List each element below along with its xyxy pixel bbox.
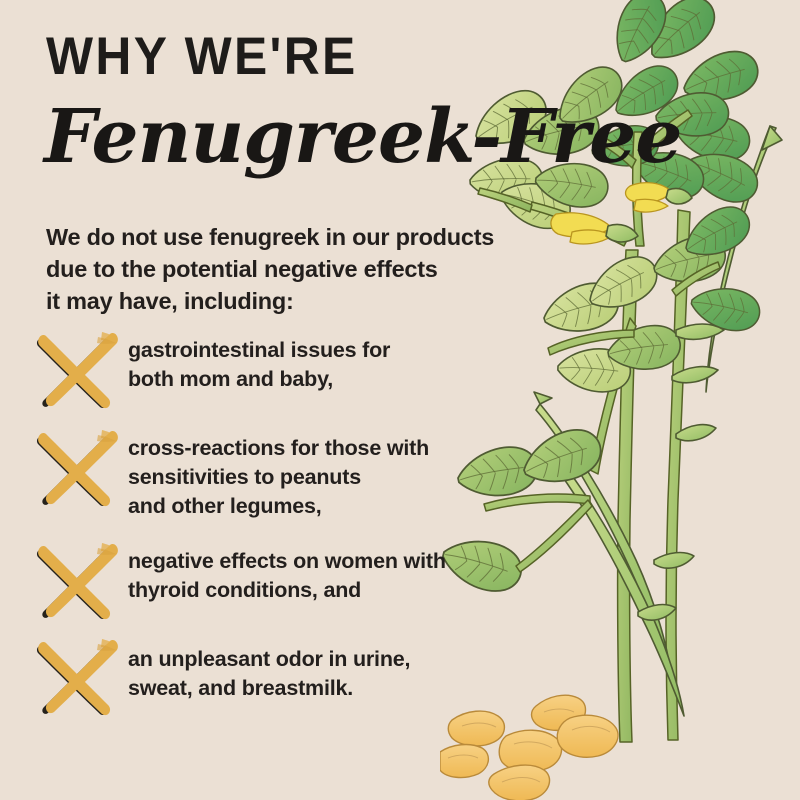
x-mark-icon — [32, 635, 118, 721]
x-mark-icon — [32, 426, 118, 512]
list-line: cross-reactions for those with — [128, 434, 429, 463]
list-item: an unpleasant odor in urine, sweat, and … — [0, 639, 540, 737]
list-item-text: cross-reactions for those with sensitivi… — [128, 428, 429, 520]
poster-canvas: .lf{stroke:#4F5B32;stroke-width:1.6;stro… — [0, 0, 800, 800]
list-line: negative effects on women with — [128, 547, 446, 576]
intro-line: due to the potential negative effects — [46, 254, 546, 286]
x-mark-icon — [32, 539, 118, 625]
intro-paragraph: We do not use fenugreek in our products … — [46, 222, 546, 318]
x-mark-icon — [32, 328, 118, 414]
page-title-text: Fenugreek-Free — [42, 94, 681, 180]
list-item-text: negative effects on women with thyroid c… — [128, 541, 446, 605]
page-title: Fenugreek-Free — [44, 96, 514, 182]
list-line: thyroid conditions, and — [128, 576, 446, 605]
list-item: gastrointestinal issues for both mom and… — [0, 330, 540, 428]
list-line: an unpleasant odor in urine, — [128, 645, 410, 674]
list-item: negative effects on women with thyroid c… — [0, 541, 540, 639]
reasons-list: gastrointestinal issues for both mom and… — [0, 330, 540, 737]
page-kicker: WHY WE'RE — [46, 30, 358, 83]
list-line: both mom and baby, — [128, 365, 390, 394]
text-column: WHY WE'RE Fenugreek-Free We do not use f… — [0, 0, 540, 800]
list-line: sensitivities to peanuts — [128, 463, 429, 492]
list-line: and other legumes, — [128, 492, 429, 521]
intro-line: We do not use fenugreek in our products — [46, 222, 546, 254]
list-item-text: gastrointestinal issues for both mom and… — [128, 330, 390, 394]
list-item: cross-reactions for those with sensitivi… — [0, 428, 540, 541]
list-item-text: an unpleasant odor in urine, sweat, and … — [128, 639, 410, 703]
list-line: gastrointestinal issues for — [128, 336, 390, 365]
intro-line: it may have, including: — [46, 286, 546, 318]
list-line: sweat, and breastmilk. — [128, 674, 410, 703]
